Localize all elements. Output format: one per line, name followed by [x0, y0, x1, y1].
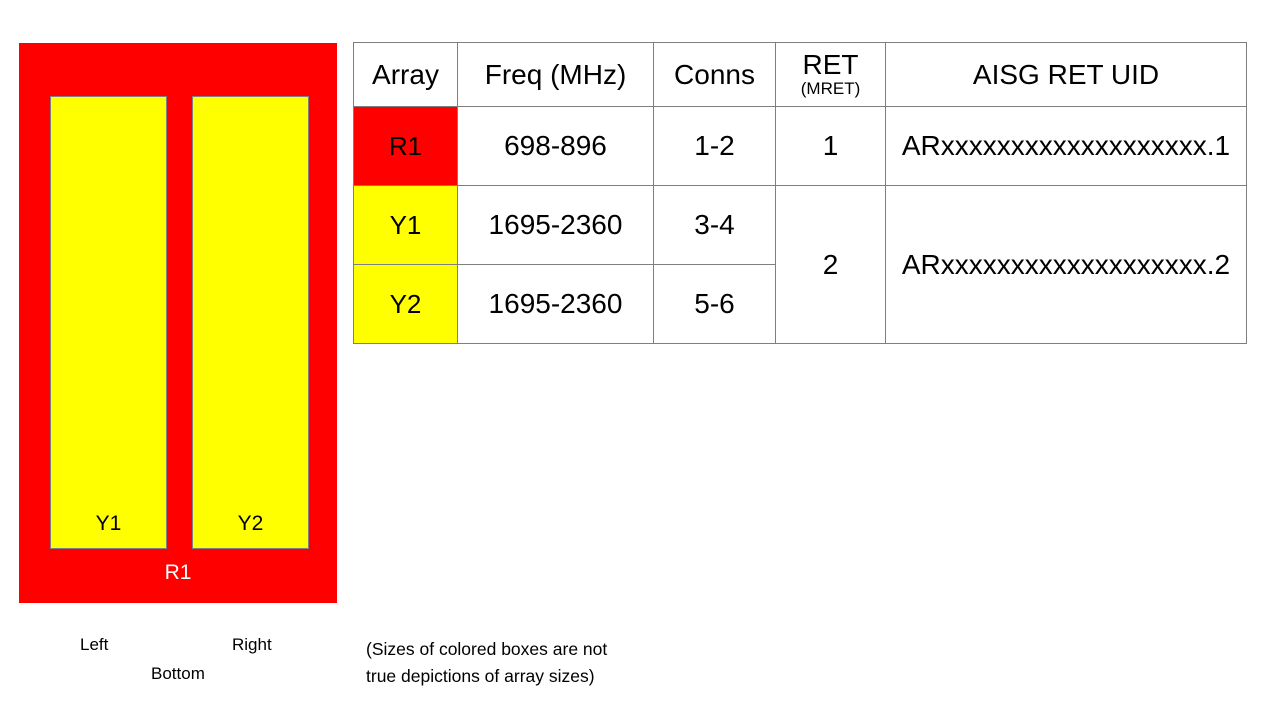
- cell-ret-y-group: 2: [776, 186, 886, 344]
- cell-freq-y1: 1695-2360: [458, 186, 654, 265]
- cell-freq-r1: 698-896: [458, 107, 654, 186]
- column-header-freq: Freq (MHz): [458, 43, 654, 107]
- antenna-array-diagram: R1 Y1 Y2: [19, 43, 337, 603]
- inner-array-y1: Y1: [50, 96, 167, 549]
- orientation-label-bottom: Bottom: [151, 665, 205, 682]
- column-header-ret: RET (MRET): [776, 43, 886, 107]
- column-header-ret-main: RET: [776, 50, 885, 79]
- orientation-label-right: Right: [232, 636, 272, 653]
- cell-conns-r1: 1-2: [654, 107, 776, 186]
- cell-conns-y2: 5-6: [654, 265, 776, 344]
- cell-freq-y2: 1695-2360: [458, 265, 654, 344]
- footnote-note: (Sizes of colored boxes are not true dep…: [366, 636, 696, 690]
- ret-configuration-table: Array Freq (MHz) Conns RET (MRET) AISG R…: [353, 42, 1247, 344]
- cell-array-r1: R1: [354, 107, 458, 186]
- inner-array-y2: Y2: [192, 96, 309, 549]
- column-header-conns: Conns: [654, 43, 776, 107]
- inner-array-y1-label: Y1: [51, 513, 166, 534]
- cell-array-y1: Y1: [354, 186, 458, 265]
- outer-array-label: R1: [19, 562, 337, 583]
- orientation-label-left: Left: [80, 636, 108, 653]
- cell-ret-r1: 1: [776, 107, 886, 186]
- footnote-line-1: (Sizes of colored boxes are not: [366, 636, 696, 663]
- column-header-uid: AISG RET UID: [886, 43, 1247, 107]
- cell-uid-y-group: ARxxxxxxxxxxxxxxxxxxx.2: [886, 186, 1247, 344]
- table-row: Y1 1695-2360 3-4 2 ARxxxxxxxxxxxxxxxxxxx…: [354, 186, 1247, 265]
- cell-uid-r1: ARxxxxxxxxxxxxxxxxxxx.1: [886, 107, 1247, 186]
- cell-array-y2: Y2: [354, 265, 458, 344]
- table-row: R1 698-896 1-2 1 ARxxxxxxxxxxxxxxxxxxx.1: [354, 107, 1247, 186]
- footnote-line-2: true depictions of array sizes): [366, 663, 696, 690]
- table-header-row: Array Freq (MHz) Conns RET (MRET) AISG R…: [354, 43, 1247, 107]
- column-header-ret-sub: (MRET): [776, 79, 885, 99]
- column-header-array: Array: [354, 43, 458, 107]
- cell-conns-y1: 3-4: [654, 186, 776, 265]
- inner-array-y2-label: Y2: [193, 513, 308, 534]
